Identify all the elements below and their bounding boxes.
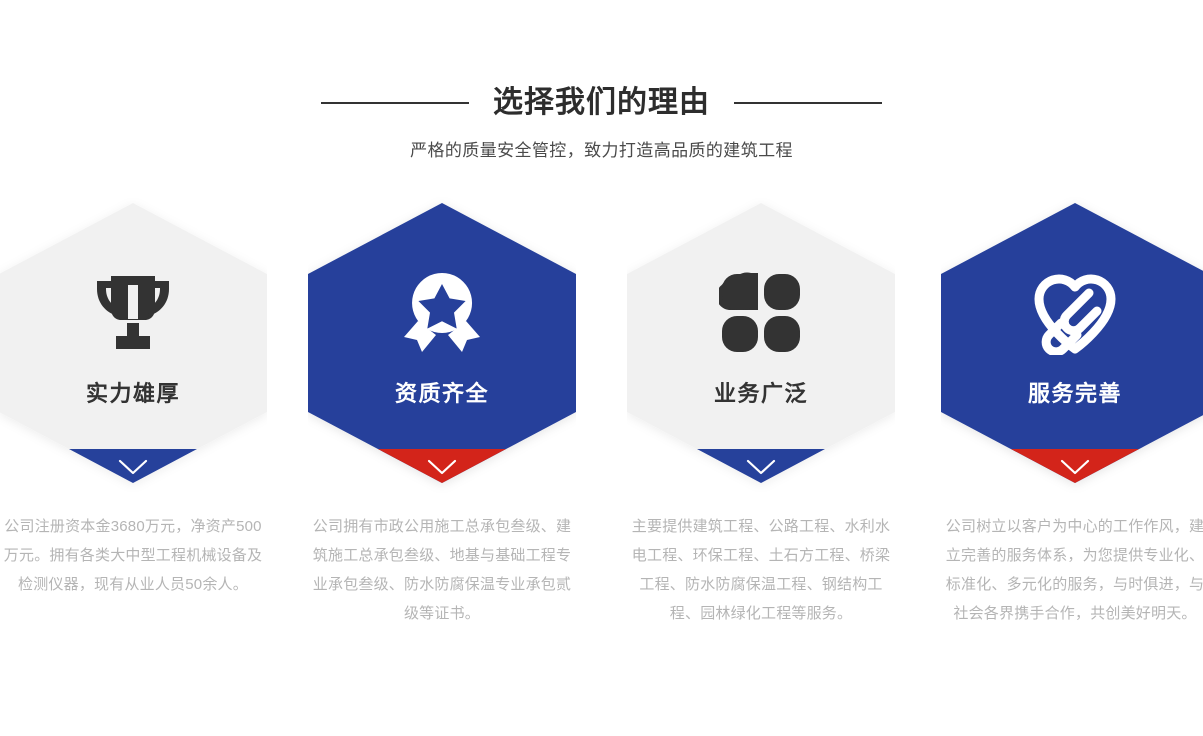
- card-title: 服务完善: [1028, 379, 1122, 409]
- card-description: 公司拥有市政公用施工总承包叁级、建筑施工总承包叁级、地基与基础工程专业承包叁级、…: [311, 512, 573, 628]
- hexagon-content: 业务广泛: [627, 196, 895, 483]
- feature-card-fuwu-wanshan[interactable]: 服务完善: [941, 196, 1203, 496]
- title-rule-right: [734, 102, 882, 104]
- hexagon-content: 实力雄厚: [0, 196, 267, 483]
- feature-card-yewu-guangfan[interactable]: 业务广泛: [627, 196, 895, 496]
- feature-card-list: 实力雄厚: [0, 196, 1203, 496]
- card-title: 实力雄厚: [86, 379, 180, 409]
- hexagon-content: 服务完善: [941, 196, 1203, 483]
- section-heading: 选择我们的理由 严格的质量安全管控，致力打造高品质的建筑工程: [0, 82, 1203, 164]
- card-title: 资质齐全: [395, 379, 489, 409]
- title-rule-left: [321, 102, 469, 104]
- card-description: 公司树立以客户为中心的工作作风，建立完善的服务体系，为您提供专业化、标准化、多元…: [944, 512, 1203, 628]
- card-description: 公司注册资本金3680万元，净资产500万元。拥有各类大中型工程机械设备及检测仪…: [2, 512, 264, 599]
- medal-ribbon-icon: [396, 265, 488, 361]
- card-description: 主要提供建筑工程、公路工程、水利水电工程、环保工程、土石方工程、桥梁工程、防水防…: [630, 512, 892, 628]
- feature-card-zizhi-quanquan[interactable]: 资质齐全: [308, 196, 576, 496]
- why-choose-us-section: 选择我们的理由 严格的质量安全管控，致力打造高品质的建筑工程: [0, 0, 1203, 736]
- section-subtitle: 严格的质量安全管控，致力打造高品质的建筑工程: [0, 138, 1203, 164]
- card-title: 业务广泛: [714, 379, 808, 409]
- clover-four-petal-icon: [715, 265, 807, 361]
- trophy-icon: [87, 265, 179, 361]
- feature-description-list: 公司注册资本金3680万元，净资产500万元。拥有各类大中型工程机械设备及检测仪…: [0, 512, 1203, 692]
- feature-card-shili-xionghou[interactable]: 实力雄厚: [0, 196, 267, 496]
- hexagon-content: 资质齐全: [308, 196, 576, 483]
- page-title: 选择我们的理由: [493, 82, 710, 124]
- title-row: 选择我们的理由: [0, 82, 1203, 124]
- interlocking-heart-icon: [1029, 265, 1121, 361]
